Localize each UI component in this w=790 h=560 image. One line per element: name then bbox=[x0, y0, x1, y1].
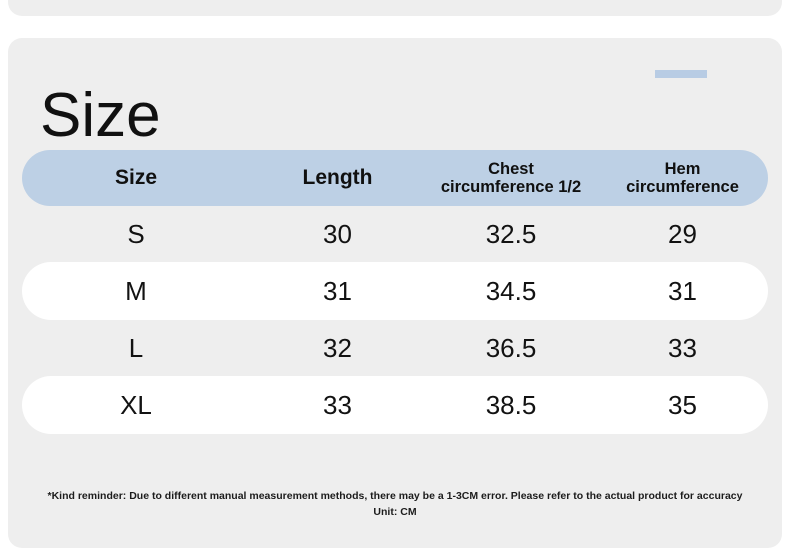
cell-chest: 38.5 bbox=[425, 390, 597, 421]
column-header-hem-circumference: Hem circumference bbox=[597, 160, 768, 197]
column-header-chest-line-2: circumference 1/2 bbox=[425, 178, 597, 196]
table-header-row: Size Length Chest circumference 1/2 Hem … bbox=[22, 150, 768, 206]
cell-hem: 33 bbox=[597, 333, 768, 364]
table-row: S 30 32.5 29 bbox=[22, 206, 768, 262]
top-panel-strip bbox=[8, 0, 782, 16]
unit-note: Unit: CM bbox=[8, 504, 782, 520]
cell-length: 32 bbox=[250, 333, 425, 364]
table-row: L 32 36.5 33 bbox=[22, 320, 768, 376]
cell-chest: 36.5 bbox=[425, 333, 597, 364]
cell-length: 31 bbox=[250, 276, 425, 307]
column-header-hem-line-1: Hem bbox=[597, 160, 768, 178]
cell-hem: 29 bbox=[597, 219, 768, 250]
table-row: M 31 34.5 31 bbox=[22, 262, 768, 320]
cell-hem: 35 bbox=[597, 390, 768, 421]
cell-chest: 32.5 bbox=[425, 219, 597, 250]
size-chart-card: Size Size Length Chest circumference 1/2… bbox=[8, 38, 782, 548]
table-row: XL 33 38.5 35 bbox=[22, 376, 768, 434]
page-title: Size bbox=[40, 85, 161, 147]
cell-length: 30 bbox=[250, 219, 425, 250]
cell-size: L bbox=[22, 333, 250, 364]
cell-hem: 31 bbox=[597, 276, 768, 307]
cell-size: M bbox=[22, 276, 250, 307]
cell-size: S bbox=[22, 219, 250, 250]
footnotes: *Kind reminder: Due to different manual … bbox=[8, 488, 782, 521]
cell-size: XL bbox=[22, 390, 250, 421]
measurement-disclaimer: *Kind reminder: Due to different manual … bbox=[8, 488, 782, 504]
column-header-hem-line-2: circumference bbox=[597, 178, 768, 196]
column-header-size: Size bbox=[22, 166, 250, 190]
cell-chest: 34.5 bbox=[425, 276, 597, 307]
accent-dash-decoration bbox=[655, 70, 707, 78]
column-header-size-line-1: Size bbox=[115, 166, 157, 189]
column-header-length: Length bbox=[250, 166, 425, 190]
cell-length: 33 bbox=[250, 390, 425, 421]
column-header-chest-circumference: Chest circumference 1/2 bbox=[425, 160, 597, 197]
column-header-chest-line-1: Chest bbox=[425, 160, 597, 178]
column-header-length-line-1: Length bbox=[303, 166, 373, 189]
size-table: Size Length Chest circumference 1/2 Hem … bbox=[22, 150, 768, 434]
